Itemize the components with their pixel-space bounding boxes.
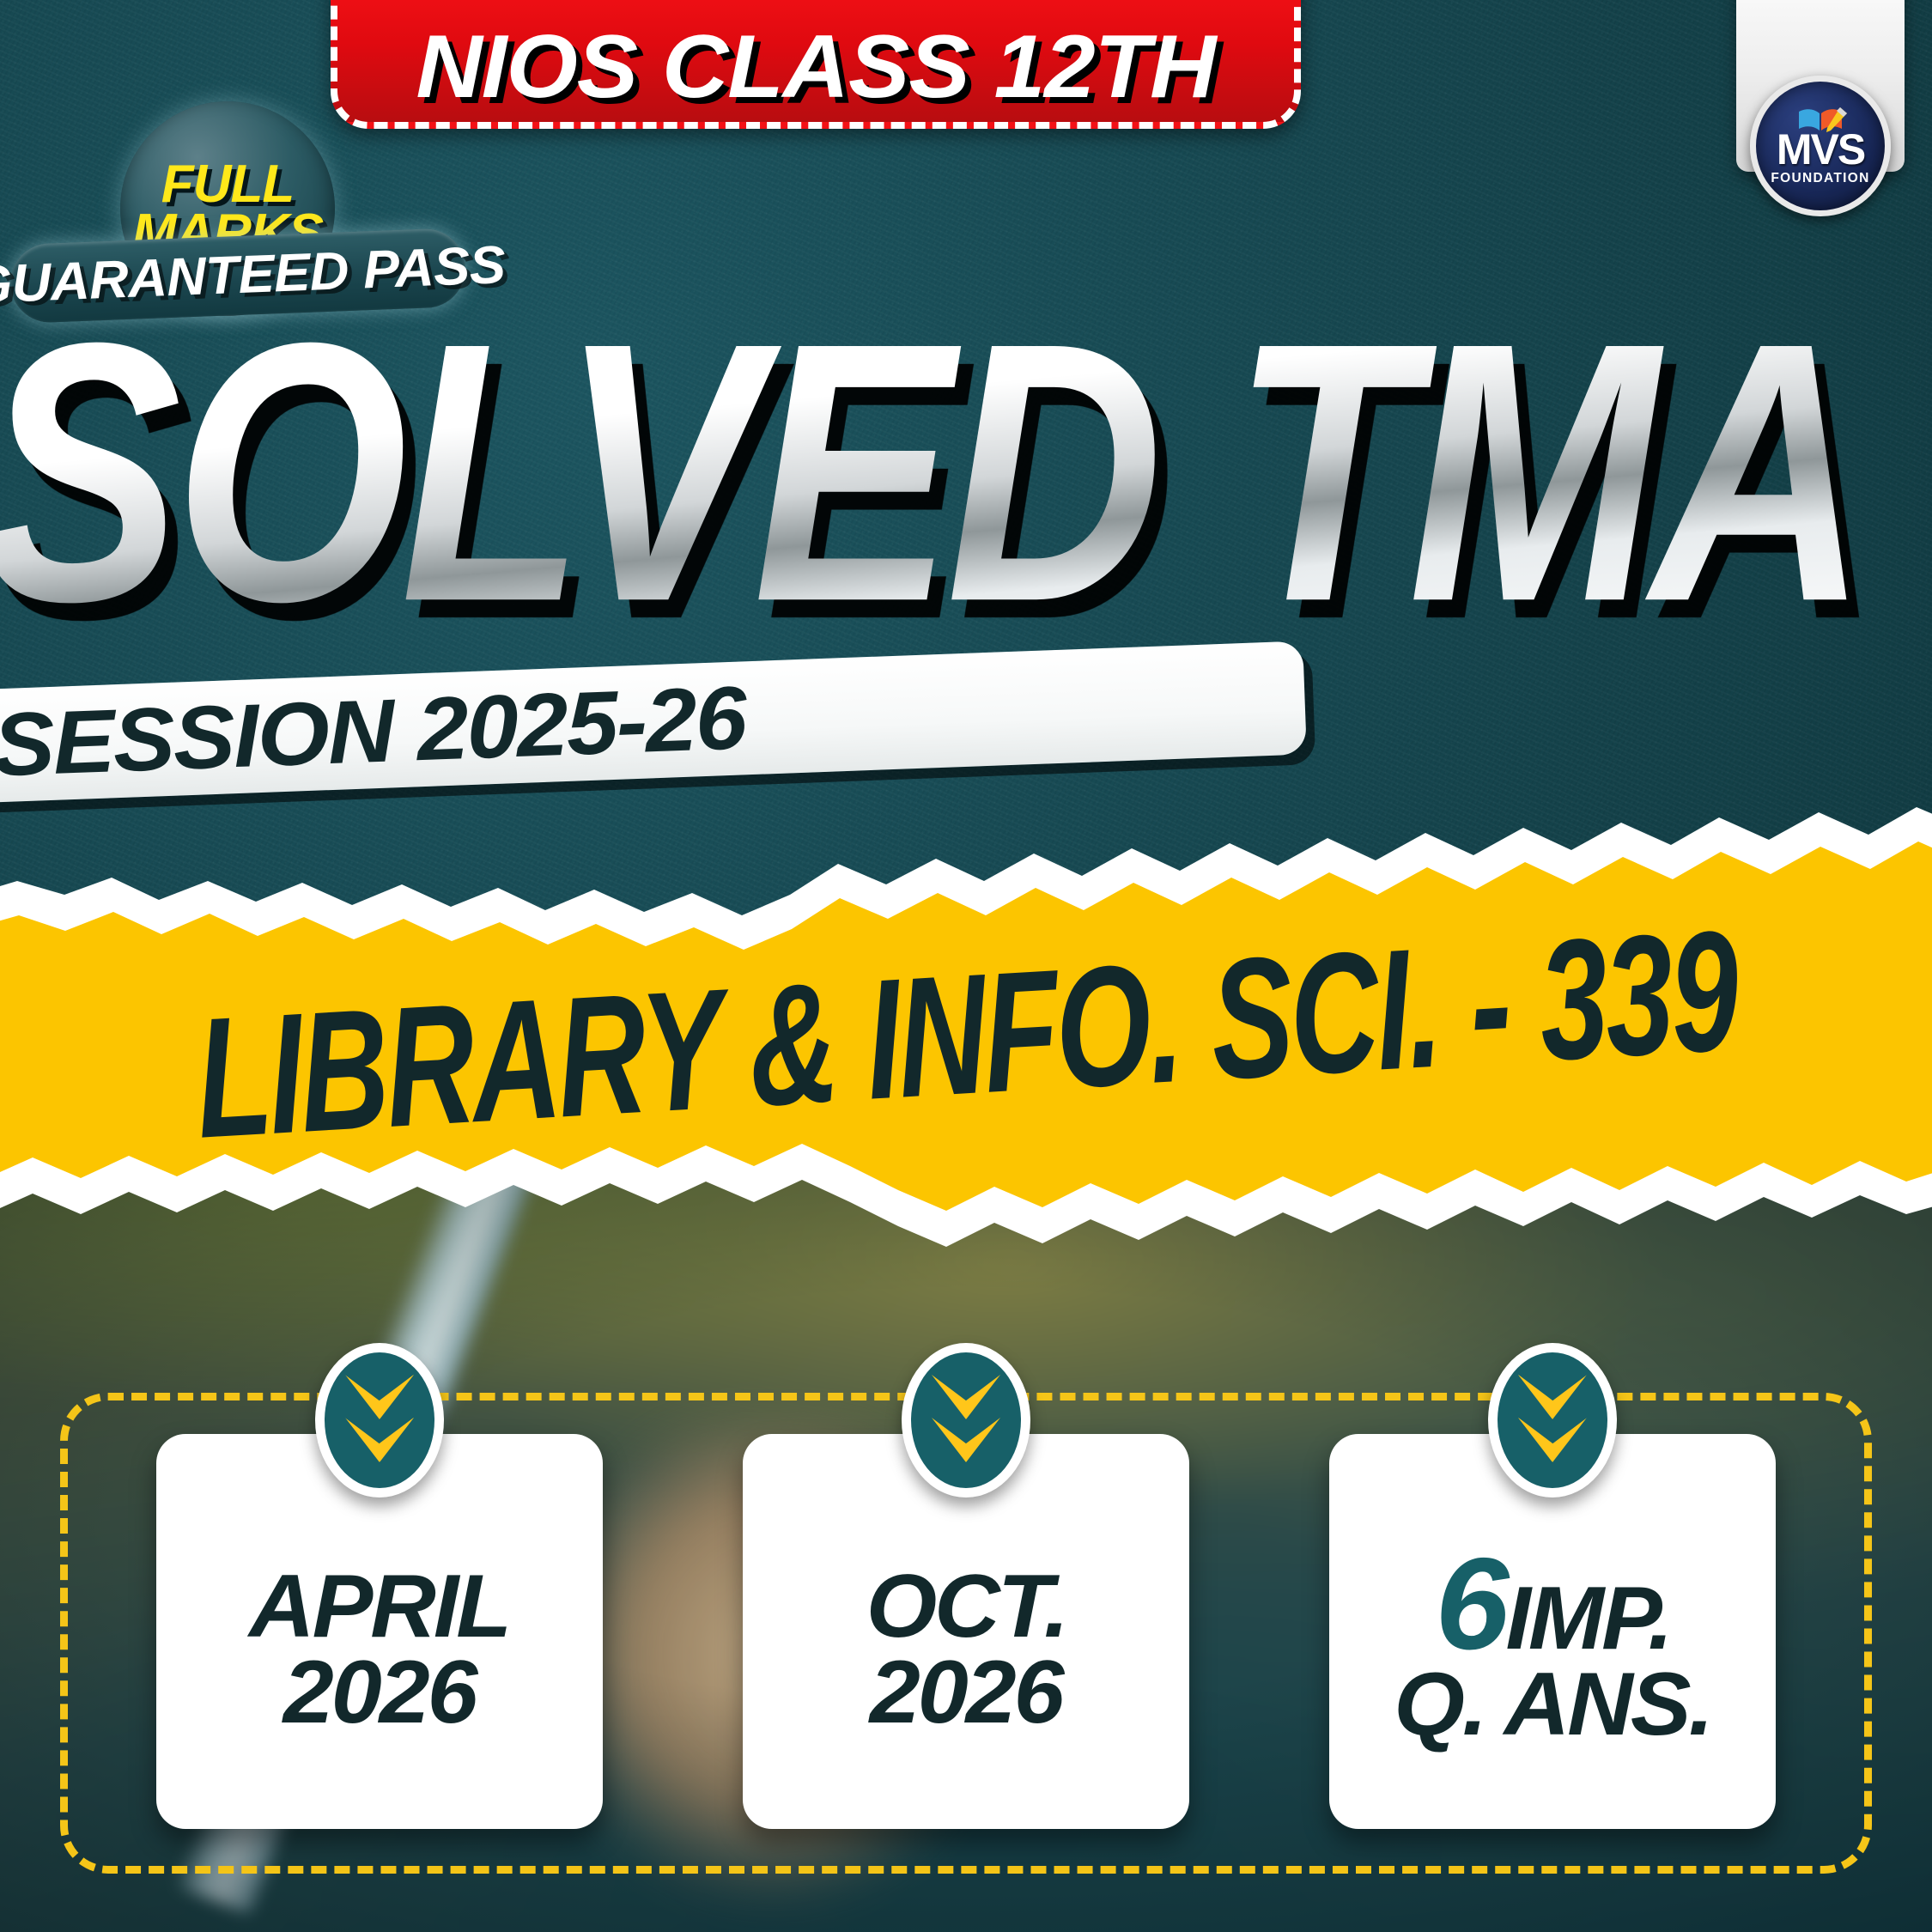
- nios-class-label: NIOS CLASS 12TH: [416, 22, 1216, 112]
- card-unit-oct: OCT. 2026: [743, 1393, 1189, 1829]
- card-imp-line2: Q. ANS.: [1394, 1662, 1712, 1748]
- logo-subtitle: FOUNDATION: [1771, 171, 1869, 186]
- full-marks-line1: FULL: [161, 160, 294, 209]
- exam-cards-group: APRIL 2026 OCT. 2026 6 IMP.: [60, 1393, 1872, 1874]
- promo-poster: NIOS CLASS 12TH MVS FOUNDATION FULL MARK…: [0, 0, 1932, 1932]
- card-unit-april: APRIL 2026: [156, 1393, 603, 1829]
- session-label: SESSION 2025-26: [0, 673, 747, 790]
- main-title-text: SOLVED TMA: [0, 289, 1861, 657]
- nios-class-banner: NIOS CLASS 12TH: [331, 0, 1301, 129]
- card-imp-line1: 6 IMP.: [1435, 1552, 1670, 1662]
- card-imp-label: IMP.: [1505, 1577, 1670, 1662]
- main-title: SOLVED TMA: [34, 292, 1777, 653]
- open-book-pencil-icon: [1790, 106, 1850, 135]
- card-april-line1: APRIL: [249, 1564, 509, 1650]
- card-oct-line2: 2026: [870, 1650, 1062, 1736]
- card-oct-line1: OCT.: [866, 1564, 1066, 1650]
- mvs-foundation-logo: MVS FOUNDATION: [1750, 76, 1891, 216]
- logo-mark-text: MVS: [1777, 131, 1864, 168]
- imp-q-count: 6: [1435, 1552, 1504, 1657]
- card-unit-imp-q: 6 IMP. Q. ANS.: [1329, 1393, 1776, 1829]
- double-chevron-down-icon: [902, 1343, 1030, 1498]
- card-april-line2: 2026: [283, 1650, 476, 1736]
- double-chevron-down-icon: [1488, 1343, 1617, 1498]
- double-chevron-down-icon: [315, 1343, 444, 1498]
